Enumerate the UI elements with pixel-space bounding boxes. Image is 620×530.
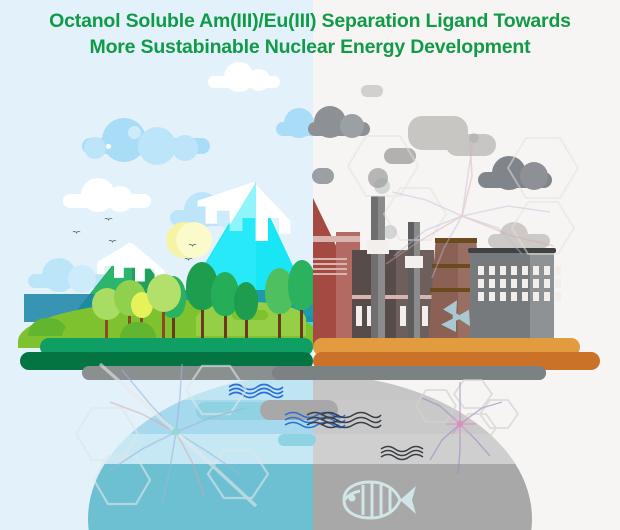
sun-crescent	[176, 222, 212, 258]
office-building-roof	[468, 248, 556, 253]
title-line-2: More Sustabinable Nuclear Energy Develop…	[0, 34, 620, 60]
brick-factory-line	[313, 268, 347, 270]
smokestack-band	[367, 240, 389, 254]
smokestack-tall-shade	[371, 196, 378, 348]
smog-cloud-faint-right	[488, 222, 550, 248]
white-cloud-top-center	[208, 62, 280, 88]
bird-icon	[72, 231, 81, 236]
brick-factory-band	[313, 236, 360, 242]
cooling-tower-rim	[435, 238, 477, 243]
blue-cloud-large	[82, 118, 210, 154]
graphic-canvas: Octanol Soluble Am(III)/Eu(III) Separati…	[0, 0, 620, 530]
water-surface-bar-grey-dark	[272, 366, 546, 380]
water-body	[88, 374, 532, 530]
brick-factory-line	[313, 263, 347, 265]
wave-mark-dark-small	[380, 444, 428, 462]
page-title: Octanol Soluble Am(III)/Eu(III) Separati…	[0, 8, 620, 60]
smog-cloud-left	[308, 106, 370, 136]
smoke-puff	[361, 85, 383, 97]
smog-cloud-small	[384, 148, 416, 164]
water-band-deep-clean	[88, 464, 313, 530]
bird-icon	[108, 240, 117, 245]
bird-icon	[184, 258, 193, 263]
radiation-symbol-icon	[439, 300, 473, 334]
title-line-1: Octanol Soluble Am(III)/Eu(III) Separati…	[49, 10, 571, 32]
wave-mark-blue	[228, 382, 284, 400]
smog-cloud-blob	[312, 168, 334, 184]
smokestack-band	[405, 256, 423, 268]
bird-icon	[104, 218, 113, 223]
water-blob	[278, 434, 316, 446]
bird-icon	[188, 244, 197, 249]
fish-skeleton-icon	[330, 478, 418, 527]
brick-factory-line	[313, 273, 347, 275]
smog-cloud-dark-right	[478, 156, 552, 188]
white-cloud-upper-left	[63, 178, 151, 208]
smokestack-mid-shade	[408, 222, 414, 348]
smoke-puff	[368, 168, 388, 188]
brick-factory-line	[313, 258, 347, 260]
office-window-grid	[478, 266, 561, 301]
wave-mark-dark	[320, 410, 382, 430]
smog-cloud-big	[408, 116, 496, 156]
